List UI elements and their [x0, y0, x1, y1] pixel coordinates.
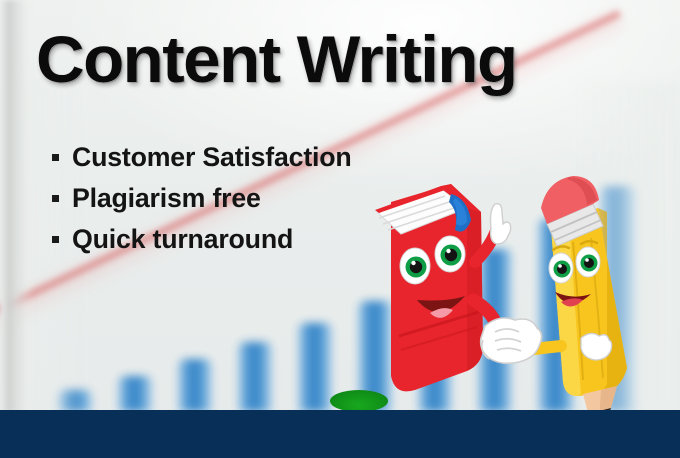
- mascot-illustration: [355, 150, 655, 420]
- page-title: Content Writing: [36, 26, 517, 92]
- handshake-icon: [481, 318, 542, 363]
- list-item-label: Customer Satisfaction: [72, 142, 352, 173]
- pencil-hand-icon: [581, 333, 612, 360]
- square-dash-bullet-icon: [52, 236, 59, 243]
- square-dash-bullet-icon: [52, 154, 59, 161]
- list-item-label: Plagiarism free: [72, 183, 261, 214]
- chart-bar: [238, 342, 272, 412]
- list-item-label: Quick turnaround: [72, 224, 293, 255]
- red-book-mascot: [375, 184, 511, 391]
- yellow-pencil-mascot: [527, 176, 627, 420]
- pointing-hand-icon: [491, 204, 511, 244]
- chart-bar: [298, 323, 332, 412]
- square-dash-bullet-icon: [52, 195, 59, 202]
- chart-bar: [178, 359, 212, 412]
- left-fold-shadow: [0, 0, 34, 412]
- footer-bar: [0, 410, 680, 458]
- chart-bar: [118, 376, 152, 412]
- banner-canvas: Content Writing Customer Satisfaction Pl…: [0, 0, 680, 458]
